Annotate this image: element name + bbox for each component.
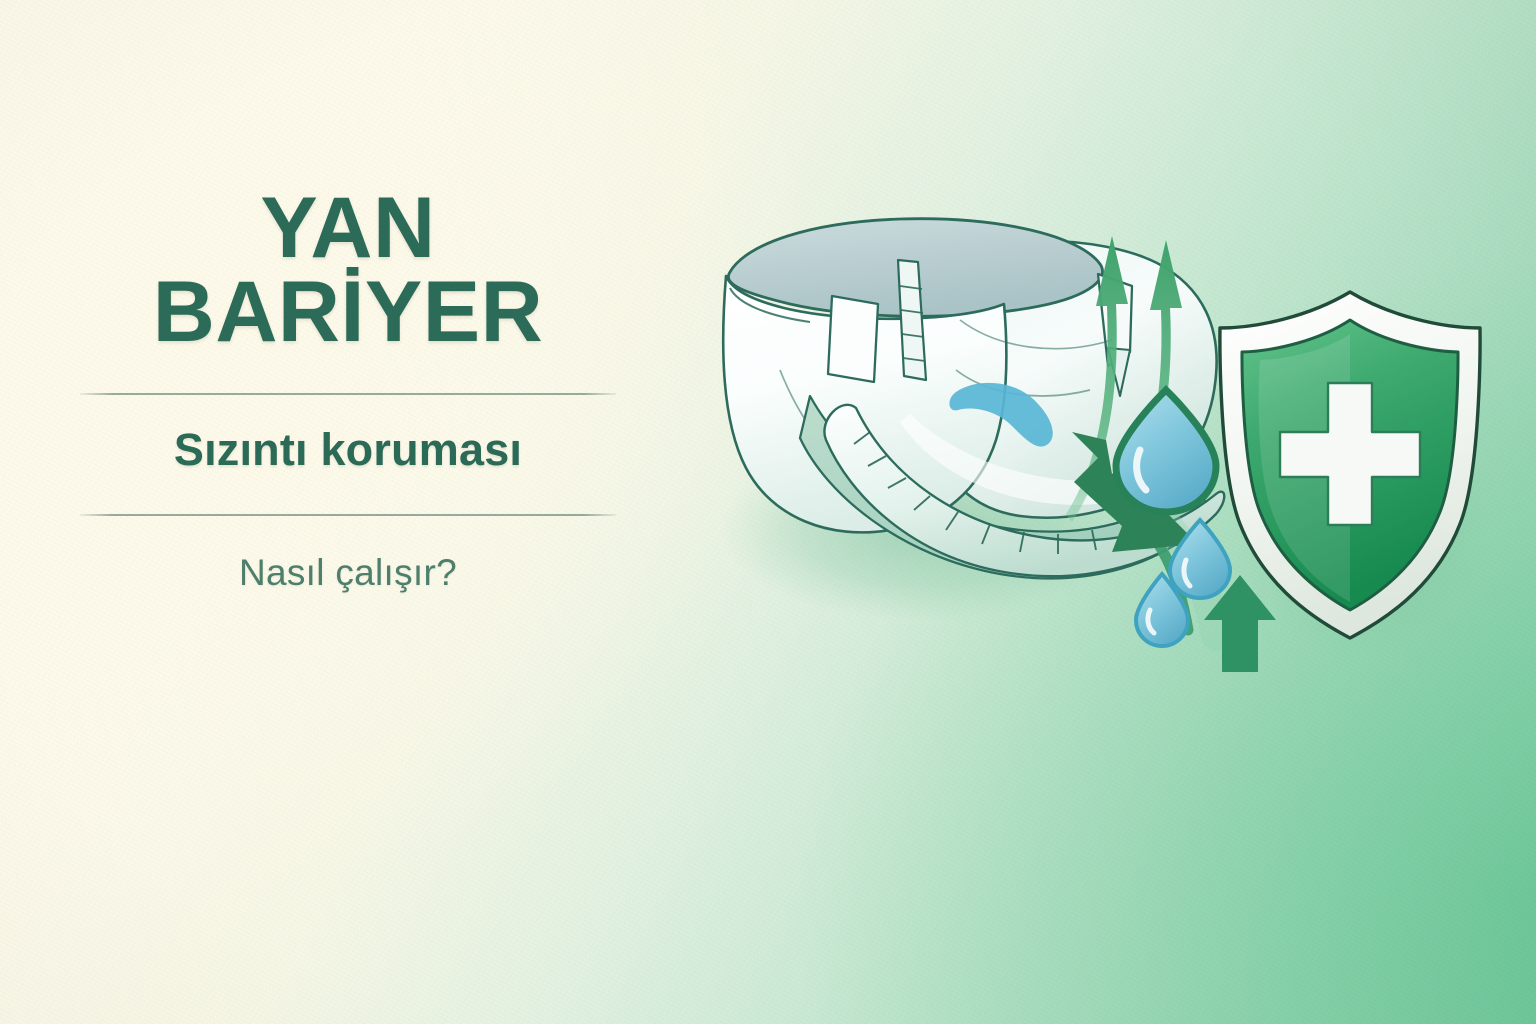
protection-shield [1220, 292, 1494, 664]
side-barrier-illustration [660, 200, 1500, 700]
diaper-tab-left [828, 296, 878, 382]
text-block: YAN BARİYER Sızıntı koruması Nasıl çalış… [80, 186, 616, 594]
page-title-line-2: BARİYER [80, 270, 616, 354]
page-title: YAN BARİYER [80, 186, 616, 355]
divider-top [80, 393, 616, 395]
tagline: Nasıl çalışır? [80, 552, 616, 594]
divider-bottom [80, 514, 616, 516]
page-title-line-1: YAN [260, 180, 435, 276]
poster-canvas: YAN BARİYER Sızıntı koruması Nasıl çalış… [0, 0, 1536, 1024]
subtitle: Sızıntı koruması [80, 425, 616, 475]
